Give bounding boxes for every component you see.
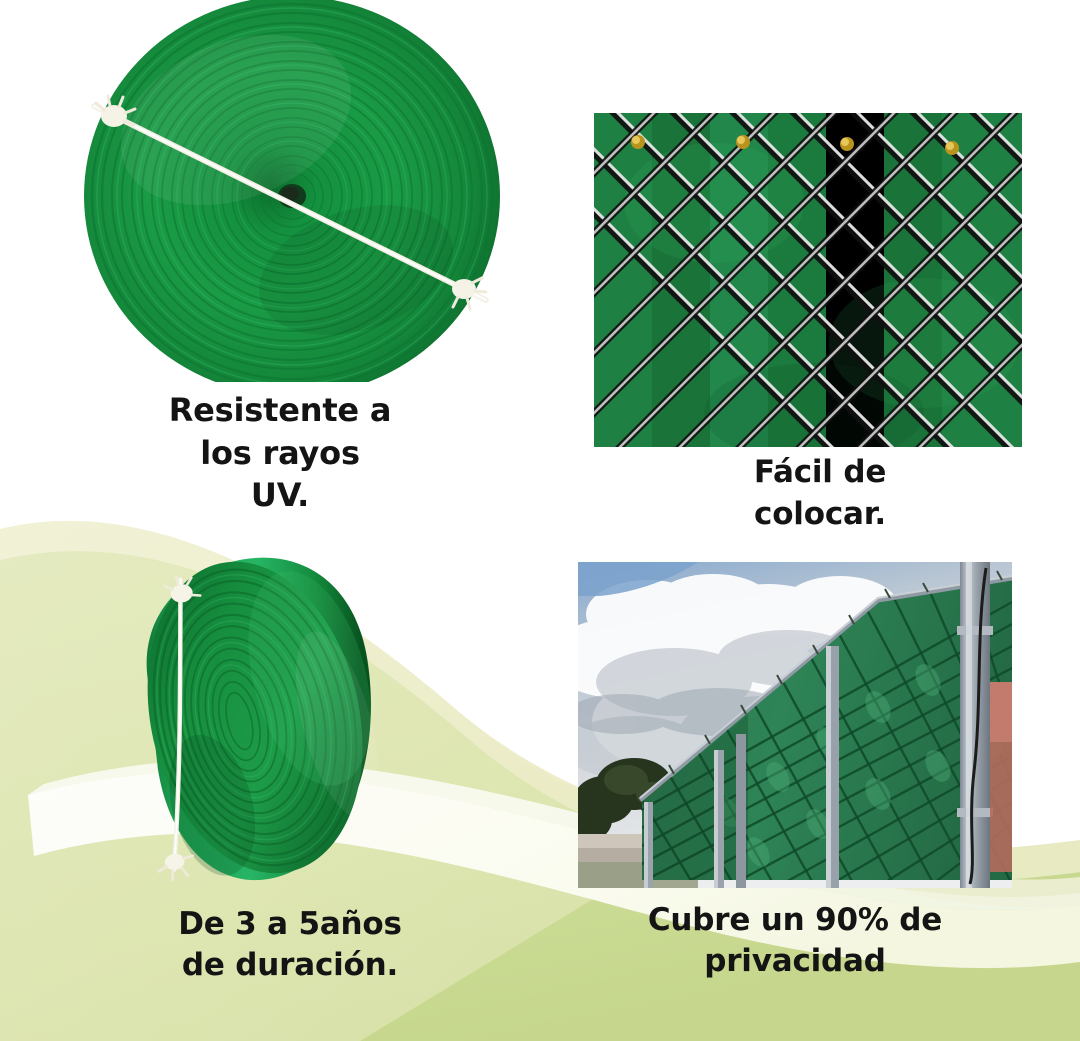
photo-coil-front-view [56, 0, 528, 382]
photo-coil-angled-view [104, 548, 400, 900]
photo-fence-installed [578, 562, 1012, 888]
metal-pipe [957, 562, 993, 888]
coil-front-view-illustration [56, 0, 528, 382]
caption-durability: De 3 a 5años de duración. [50, 904, 530, 986]
caption-privacy: Cubre un 90% de privacidad [580, 900, 1010, 982]
fence-closeup-illustration [594, 113, 1022, 447]
coil-angled-view-illustration [104, 548, 400, 900]
fence-installed-illustration [578, 562, 1012, 888]
caption-easy-install: Fácil de colocar. [620, 452, 1020, 535]
caption-uv-resistance: Resistente a los rayos UV. [60, 389, 500, 517]
promo-infographic: Resistente a los rayos UV. Fácil de colo… [0, 0, 1080, 1041]
photo-fence-closeup [594, 113, 1022, 447]
